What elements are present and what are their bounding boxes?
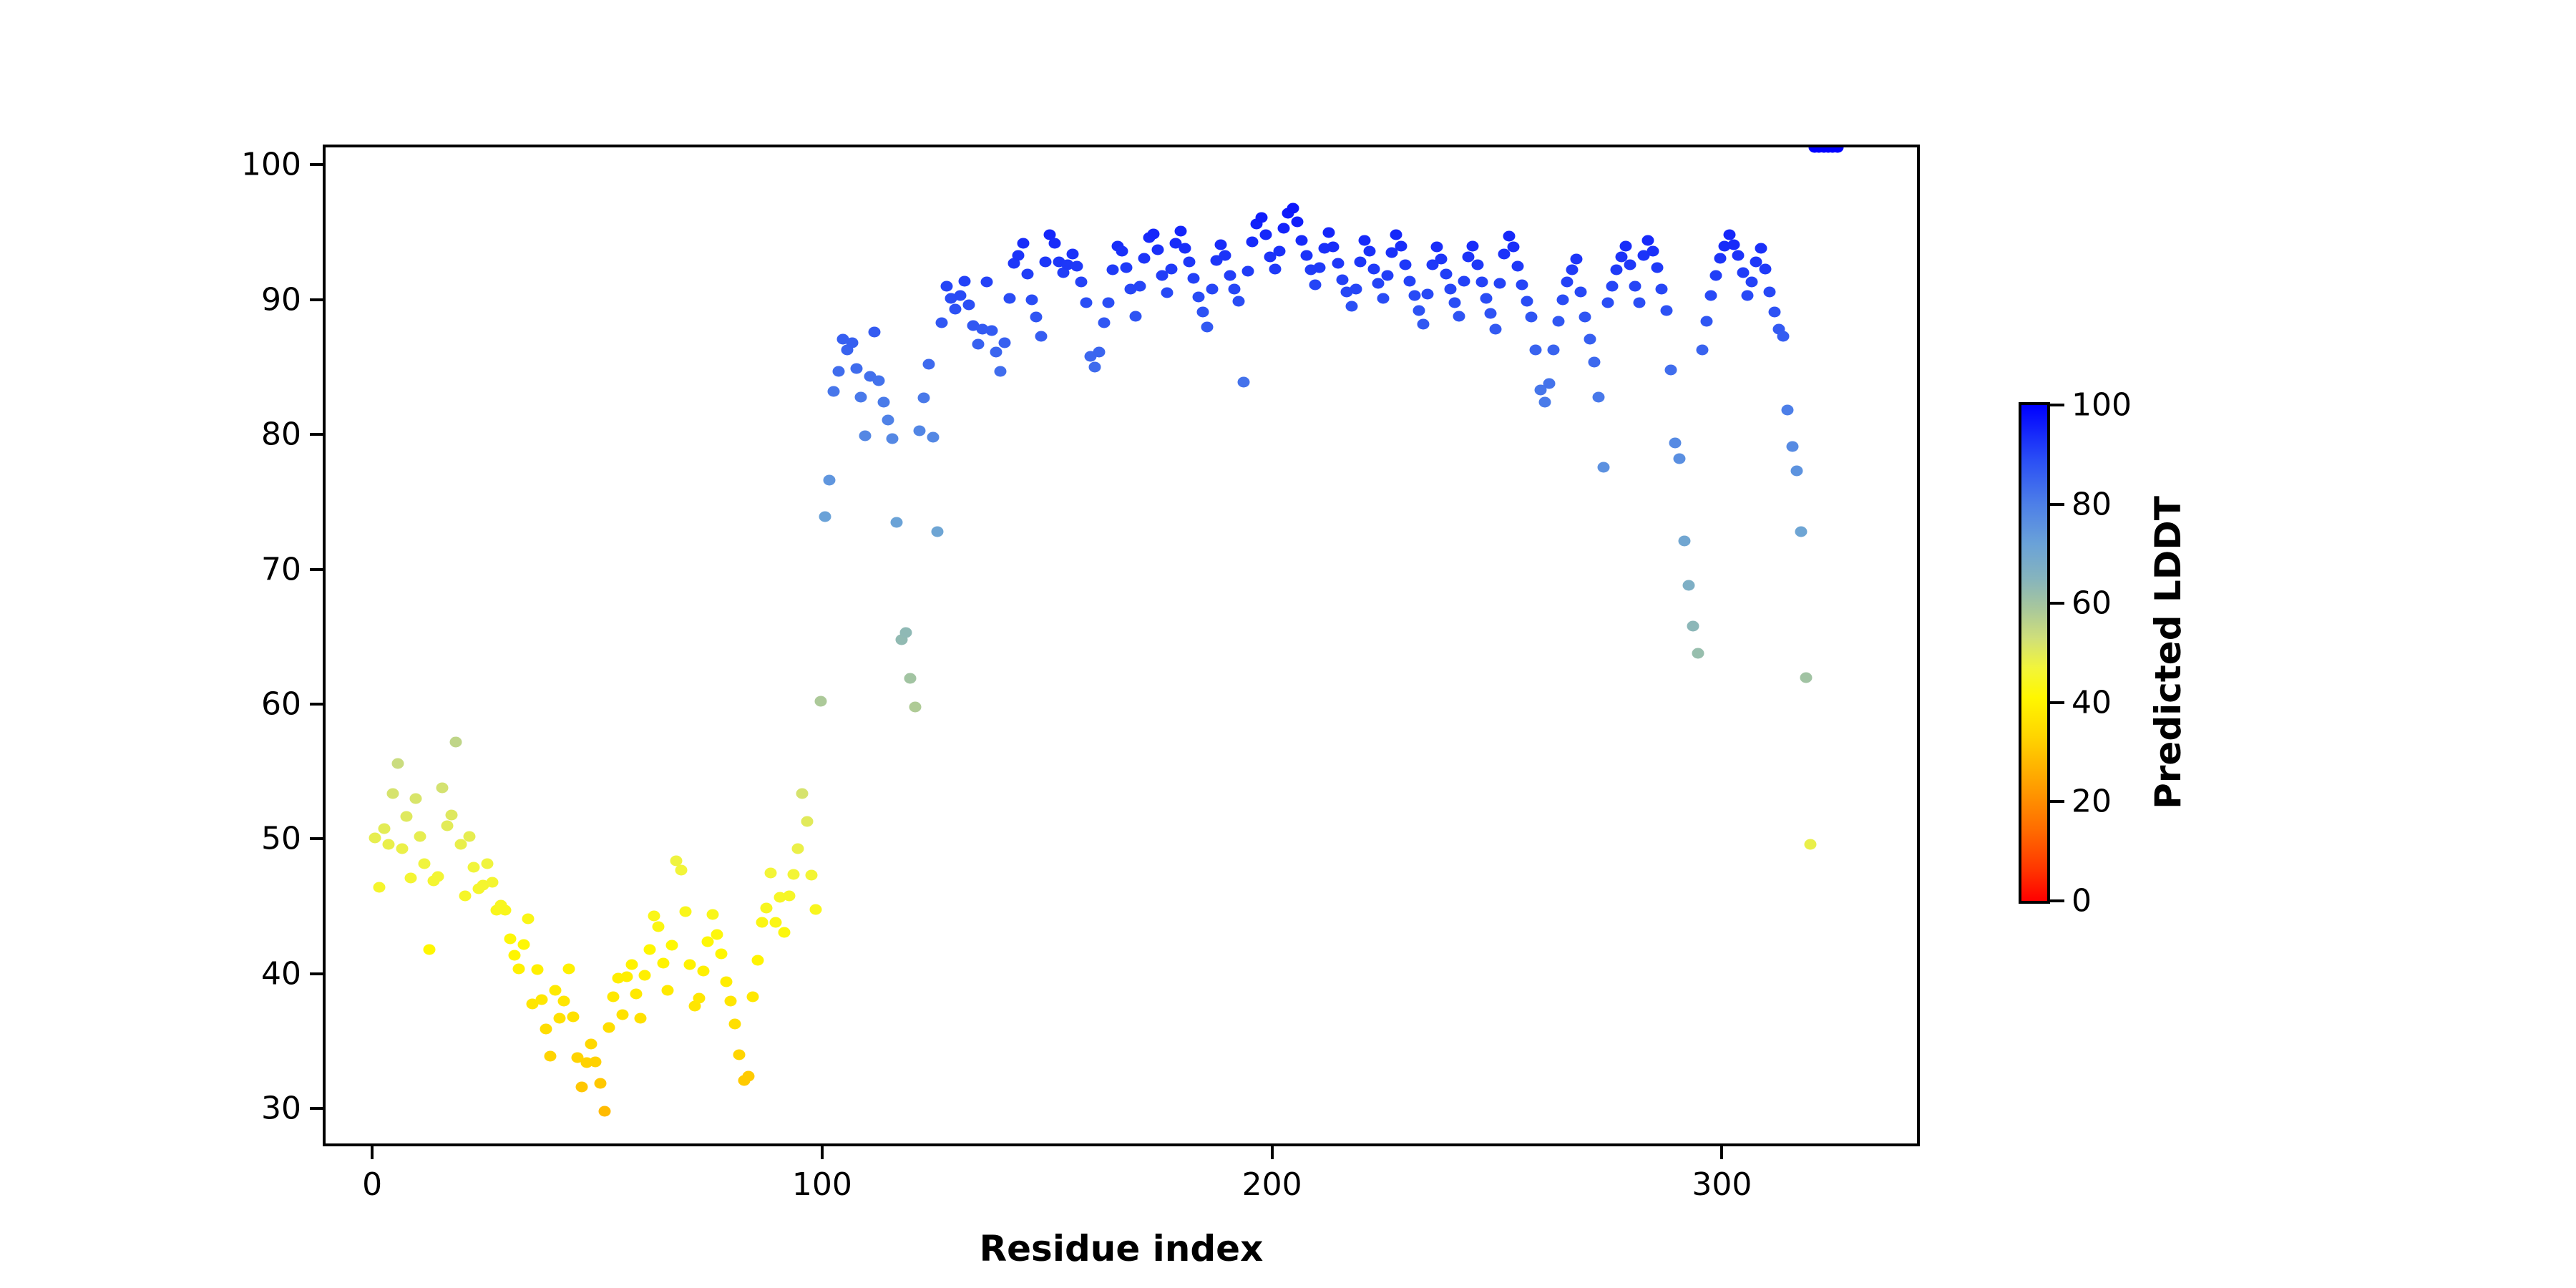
scatter-point <box>1660 305 1672 316</box>
scatter-point <box>1381 270 1393 281</box>
scatter-point <box>954 291 966 301</box>
scatter-point <box>1102 297 1114 308</box>
scatter-point <box>990 347 1002 358</box>
scatter-point <box>698 966 710 977</box>
scatter-point <box>1233 296 1245 306</box>
scatter-point <box>787 869 799 879</box>
scatter-point <box>1786 441 1798 452</box>
scatter-point <box>1453 311 1465 321</box>
scatter-point <box>1246 236 1259 247</box>
scatter-point <box>891 517 903 527</box>
scatter-point <box>517 939 530 950</box>
scatter-point <box>801 816 813 827</box>
scatter-point <box>1070 260 1083 271</box>
scatter-point <box>1714 253 1727 263</box>
colorbar-tick-mark <box>2050 602 2064 605</box>
scatter-point <box>904 673 917 684</box>
scatter-point <box>1229 283 1241 294</box>
scatter-point <box>1656 283 1668 294</box>
scatter-point <box>1480 293 1493 304</box>
scatter-point <box>1021 269 1033 280</box>
scatter-point <box>1597 462 1609 472</box>
scatter-point <box>1435 254 1448 265</box>
scatter-point <box>482 858 494 869</box>
scatter-point <box>846 338 858 348</box>
scatter-point <box>598 1106 610 1117</box>
scatter-point <box>414 831 426 841</box>
scatter-point <box>806 870 818 881</box>
scatter-point <box>1237 376 1249 387</box>
scatter-point <box>1538 397 1551 408</box>
scatter-point <box>1471 259 1483 270</box>
scatter-point <box>1075 277 1088 288</box>
scatter-point <box>621 971 633 982</box>
scatter-point <box>1395 240 1407 251</box>
scatter-point <box>1601 297 1614 308</box>
scatter-point <box>1782 405 1794 416</box>
scatter-point <box>639 970 651 980</box>
scatter-point <box>751 955 763 966</box>
scatter-point <box>1467 240 1479 251</box>
scatter-point <box>1241 266 1254 277</box>
scatter-point <box>972 339 984 350</box>
scatter-point <box>590 1056 602 1067</box>
scatter-point <box>630 989 642 1000</box>
scatter-point <box>1646 246 1659 257</box>
scatter-point <box>765 867 777 878</box>
scatter-point <box>1566 265 1578 275</box>
scatter-point <box>693 992 705 1003</box>
y-tick-mark <box>310 298 323 301</box>
scatter-point <box>882 414 894 425</box>
scatter-point <box>594 1078 606 1088</box>
y-axis-label: Predicted LDDT <box>0 489 4 802</box>
scatter-point <box>909 701 921 712</box>
scatter-point <box>1430 242 1443 253</box>
scatter-point <box>1367 263 1380 274</box>
scatter-point <box>1422 289 1434 300</box>
scatter-point <box>729 1018 741 1029</box>
scatter-point <box>716 948 728 959</box>
scatter-point <box>553 1013 565 1024</box>
scatter-point <box>1093 347 1106 358</box>
colorbar-tick-label: 60 <box>2072 585 2112 622</box>
scatter-point <box>535 994 547 1005</box>
scatter-point <box>810 904 822 914</box>
scatter-point <box>1449 297 1461 308</box>
scatter-point <box>1503 231 1515 242</box>
scatter-point <box>401 811 413 821</box>
scatter-point <box>675 864 687 875</box>
scatter-point <box>1557 294 1569 305</box>
scatter-point <box>679 907 691 917</box>
scatter-point <box>450 736 462 747</box>
scatter-point <box>792 843 804 854</box>
scatter-point <box>1570 254 1582 265</box>
scatter-point <box>1292 216 1304 227</box>
scatter-point <box>1255 212 1267 223</box>
scatter-point <box>900 628 912 638</box>
scatter-point <box>1273 246 1285 257</box>
scatter-point <box>504 934 516 945</box>
scatter-point <box>779 927 791 937</box>
scatter-point <box>1080 297 1092 308</box>
x-tick-label: 200 <box>1242 1166 1302 1203</box>
scatter-point <box>1696 344 1708 355</box>
scatter-point <box>769 917 781 928</box>
scatter-point <box>1705 291 1717 301</box>
scatter-point <box>913 425 925 436</box>
colorbar-tick-label: 80 <box>2072 486 2112 522</box>
scatter-point <box>1350 283 1362 294</box>
scatter-point <box>603 1023 615 1033</box>
scatter-point <box>1296 235 1308 246</box>
scatter-point <box>1800 672 1812 683</box>
scatter-point <box>1179 243 1191 254</box>
scatter-point <box>958 275 970 286</box>
scatter-point <box>1589 356 1601 367</box>
scatter-point <box>1336 274 1348 285</box>
scatter-point <box>459 890 471 901</box>
scatter-point <box>1219 250 1231 260</box>
scatter-point <box>855 391 867 402</box>
scatter-point <box>454 839 467 850</box>
scatter-point <box>1521 296 1533 306</box>
y-tick-label: 60 <box>261 686 301 722</box>
scatter-point <box>1377 293 1389 304</box>
scatter-point <box>985 326 997 336</box>
scatter-point <box>1642 235 1654 246</box>
scatter-point <box>783 890 795 901</box>
scatter-point <box>625 959 638 970</box>
scatter-point <box>513 963 525 974</box>
scatter-point <box>558 995 570 1006</box>
scatter-point <box>1777 331 1790 341</box>
scatter-point <box>1327 242 1340 253</box>
scatter-point <box>747 992 759 1002</box>
scatter-point <box>1669 437 1682 448</box>
scatter-point <box>1345 301 1357 312</box>
colorbar-tick-mark <box>2050 800 2064 803</box>
scatter-point <box>1674 454 1686 464</box>
scatter-point <box>743 1071 755 1082</box>
scatter-point <box>383 839 395 850</box>
scatter-point <box>1629 281 1641 292</box>
scatter-point <box>922 359 935 370</box>
scatter-point <box>1692 648 1704 658</box>
scatter-point <box>1737 268 1749 278</box>
scatter-point <box>1516 280 1528 291</box>
plddt-scatter-figure: 30405060708090100 0100200300 Predicted L… <box>0 0 2576 1288</box>
scatter-point <box>927 432 939 443</box>
scatter-point <box>585 1039 597 1050</box>
scatter-point <box>1129 311 1141 321</box>
scatter-point <box>1768 306 1780 317</box>
scatter-point <box>653 922 665 932</box>
scatter-point <box>648 911 660 922</box>
scatter-point <box>419 858 431 869</box>
scatter-point <box>995 366 1007 376</box>
scatter-point <box>1174 225 1186 236</box>
scatter-point <box>1359 235 1371 246</box>
scatter-point <box>643 945 655 955</box>
scatter-point <box>1755 243 1767 254</box>
y-tick-label: 100 <box>241 147 301 183</box>
colorbar-label: Predicted LDDT <box>2147 496 2189 809</box>
scatter-point <box>1161 288 1173 298</box>
scatter-point <box>1741 291 1753 301</box>
y-tick-label: 30 <box>261 1091 301 1127</box>
scatter-point <box>1458 275 1470 286</box>
scatter-point <box>1418 318 1430 329</box>
scatter-point <box>1664 364 1677 375</box>
scatter-point <box>1363 246 1375 257</box>
scatter-point <box>1278 223 1290 234</box>
scatter-point <box>828 386 840 397</box>
scatter-point <box>616 1009 628 1020</box>
scatter-point <box>1413 305 1425 316</box>
scatter-point <box>432 872 444 882</box>
scatter-point <box>1543 378 1556 389</box>
y-tick-label: 90 <box>261 281 301 318</box>
scatter-point <box>733 1050 746 1060</box>
scatter-point <box>1804 839 1816 850</box>
scatter-point <box>873 375 885 386</box>
scatter-point <box>423 945 435 955</box>
scatter-point <box>1260 230 1272 240</box>
scatter-point <box>446 809 458 820</box>
scatter-point <box>1764 286 1776 297</box>
scatter-point <box>1206 283 1218 294</box>
scatter-point <box>1138 253 1151 263</box>
y-tick-mark <box>310 972 323 975</box>
scatter-point <box>724 995 736 1006</box>
colorbar-tick-label: 100 <box>2072 387 2132 424</box>
scatter-point <box>1201 321 1214 332</box>
scatter-point <box>1121 262 1133 273</box>
scatter-point <box>567 1012 579 1023</box>
scatter-point <box>666 940 678 951</box>
scatter-point <box>522 913 534 924</box>
scatter-point <box>499 905 512 916</box>
scatter-point <box>1795 527 1807 537</box>
scatter-point <box>1399 259 1411 270</box>
scatter-point <box>936 317 948 328</box>
colorbar-tick-mark <box>2050 404 2064 406</box>
scatter-point <box>1606 281 1619 292</box>
scatter-point <box>1678 536 1690 547</box>
scatter-point <box>1188 273 1200 283</box>
scatter-point <box>1224 270 1236 281</box>
scatter-point <box>887 433 899 444</box>
scatter-point <box>1134 281 1146 292</box>
scatter-point <box>441 820 453 831</box>
scatter-point <box>1507 242 1519 253</box>
scatter-point <box>1098 317 1110 328</box>
scatter-point <box>1575 286 1587 297</box>
y-tick-label: 80 <box>261 416 301 453</box>
scatter-point <box>436 783 449 794</box>
colorbar-tick-label: 40 <box>2072 684 2112 721</box>
scatter-point <box>1709 270 1722 281</box>
scatter-point <box>1552 316 1564 327</box>
scatter-point <box>486 877 498 887</box>
scatter-point <box>850 364 862 374</box>
x-axis-label: Residue index <box>980 1228 1264 1269</box>
scatter-point <box>549 985 561 995</box>
scatter-point <box>877 397 889 408</box>
scatter-point <box>635 1013 647 1024</box>
scatter-point <box>711 930 723 940</box>
scatter-point <box>1579 312 1591 323</box>
scatter-point <box>1512 260 1524 271</box>
scatter-point <box>1152 245 1164 255</box>
scatter-point <box>761 902 773 913</box>
x-tick-mark <box>1720 1146 1723 1159</box>
scatter-point <box>1300 250 1312 260</box>
scatter-point <box>1003 293 1015 304</box>
scatter-point <box>540 1024 552 1035</box>
scatter-point <box>1030 312 1043 323</box>
scatter-point <box>1309 280 1322 291</box>
colorbar-tick-mark <box>2050 899 2064 902</box>
scatter-point <box>1017 238 1029 248</box>
scatter-point <box>1444 283 1456 294</box>
scatter-point <box>1732 250 1745 260</box>
scatter-point <box>1652 262 1664 273</box>
scatter-point <box>1192 292 1204 303</box>
scatter-point <box>509 950 521 960</box>
y-tick-mark <box>310 1107 323 1110</box>
x-tick-label: 100 <box>792 1166 852 1203</box>
scatter-point <box>1548 344 1560 355</box>
scatter-point <box>1147 228 1159 239</box>
scatter-point <box>819 512 831 522</box>
scatter-point <box>562 963 575 974</box>
scatter-point <box>824 475 836 486</box>
scatter-point <box>1269 263 1281 274</box>
scatter-point <box>608 992 620 1002</box>
scatter-point <box>1624 259 1636 270</box>
scatter-point <box>1475 277 1488 288</box>
scatter-point <box>1727 239 1740 250</box>
scatter-point <box>405 873 417 884</box>
scatter-point <box>1408 291 1420 301</box>
y-tick-label: 50 <box>261 821 301 857</box>
scatter-point <box>1489 324 1501 335</box>
scatter-point <box>464 831 476 841</box>
scatter-point <box>1687 620 1699 631</box>
scatter-point <box>859 431 872 441</box>
scatter-point <box>1683 580 1695 591</box>
scatter-point <box>999 338 1011 348</box>
scatter-point <box>545 1050 557 1061</box>
scatter-point <box>1493 278 1506 289</box>
colorbar-tick-label: 20 <box>2072 784 2112 820</box>
scatter-point <box>387 788 399 799</box>
scatter-point <box>932 527 944 537</box>
colorbar-tick-mark <box>2050 503 2064 506</box>
x-tick-label: 300 <box>1692 1166 1752 1203</box>
scatter-point <box>661 985 673 995</box>
scatter-point <box>796 788 809 799</box>
scatter-point <box>378 823 390 834</box>
scatter-point <box>1089 362 1101 373</box>
scatter-point <box>1197 306 1209 317</box>
scatter-point <box>1485 308 1497 318</box>
scatter-point <box>576 1082 588 1093</box>
scatter-point <box>950 304 962 315</box>
scatter-point <box>869 327 881 338</box>
x-tick-mark <box>821 1146 824 1159</box>
y-tick-label: 40 <box>261 955 301 992</box>
scatter-point <box>1039 257 1051 268</box>
scatter-point <box>814 696 826 707</box>
scatter-point <box>706 909 718 920</box>
scatter-point <box>657 957 669 968</box>
scatter-point <box>1107 265 1119 275</box>
y-tick-label: 70 <box>261 551 301 587</box>
scatter-point <box>963 300 975 311</box>
scatter-point <box>1184 257 1196 268</box>
y-tick-mark <box>310 837 323 840</box>
colorbar-gradient: 020406080100 Predicted LDDT <box>2019 402 2050 904</box>
scatter-point <box>1215 239 1227 250</box>
scatter-point <box>1013 250 1025 260</box>
scatter-point <box>391 758 404 769</box>
scatter-point <box>1287 203 1299 213</box>
scatter-point <box>832 366 844 376</box>
scatter-point <box>720 977 732 987</box>
scatter-point <box>1561 277 1574 288</box>
scatter-point <box>1026 294 1038 305</box>
scatter-point <box>684 959 696 970</box>
scatter-point <box>1440 269 1452 280</box>
y-tick-mark <box>310 163 323 166</box>
y-tick-mark <box>310 433 323 436</box>
y-tick-mark <box>310 703 323 706</box>
scatter-point <box>1633 297 1645 308</box>
scatter-point <box>1166 263 1178 274</box>
scatter-point <box>374 882 386 893</box>
scatter-point <box>1530 344 1542 355</box>
scatter-point <box>1611 265 1623 275</box>
scatter-point <box>1314 262 1326 273</box>
scatter-point <box>1323 227 1335 238</box>
scatter-point <box>1746 277 1758 288</box>
y-tick-mark <box>310 568 323 571</box>
scatter-point <box>1759 263 1771 274</box>
scatter-point <box>1404 275 1416 286</box>
x-tick-label: 0 <box>362 1166 382 1203</box>
scatter-point <box>940 281 952 292</box>
scatter-point <box>396 843 408 854</box>
scatter-point <box>468 862 480 873</box>
scatter-point <box>1035 331 1047 341</box>
scatter-point <box>1526 312 1538 323</box>
x-tick-mark <box>371 1146 374 1159</box>
scatter-point <box>1584 333 1596 344</box>
plot-axes <box>323 145 1920 1146</box>
scatter-point <box>1355 257 1367 268</box>
scatter-point <box>1048 238 1060 248</box>
scatter-point <box>756 917 768 928</box>
scatter-point <box>1116 246 1128 257</box>
scatter-point <box>981 277 993 288</box>
scatter-point <box>1593 391 1605 402</box>
scatter-point <box>531 965 543 975</box>
scatter-point <box>1066 248 1078 259</box>
